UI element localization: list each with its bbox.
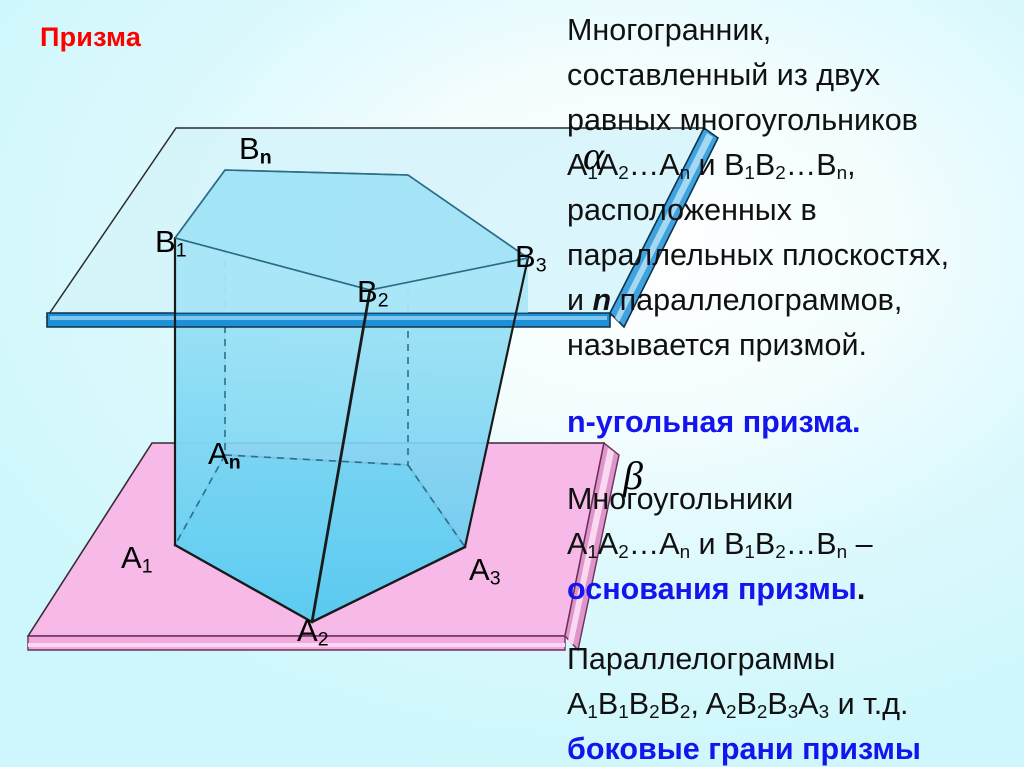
run-parallelograms: параллелограммов, (611, 283, 902, 317)
run-B-subn: n (837, 163, 848, 184)
term-lateral-faces: боковые грани призмы (567, 727, 1024, 767)
run3-s7: 3 (788, 702, 799, 723)
vertex-label-A2: A2 (297, 613, 329, 649)
term-bases: основания призмы. (567, 567, 1024, 612)
definition-line-6: параллельных плоскостях, (567, 233, 1024, 278)
run-A-sub1: 1 (587, 163, 598, 184)
vertex-label-A1-sub: 1 (142, 556, 153, 578)
run3-s8: 3 (819, 702, 830, 723)
run2-dash: – (847, 527, 872, 561)
vertex-label-An-base: A (208, 436, 229, 471)
vertex-label-B2-sub: 2 (378, 290, 389, 312)
vertex-label-A3-sub: 3 (490, 568, 501, 590)
run-comma: , (847, 148, 855, 182)
run2-B2: B (755, 527, 775, 561)
run-B-sub2: 2 (775, 163, 786, 184)
vertex-label-B3: B3 (515, 239, 547, 275)
run2-B-sub2: 2 (775, 542, 786, 563)
vertex-label-Bn: Bn (239, 131, 272, 167)
vertex-label-An-sub: n (229, 452, 241, 474)
run2-A-subn: n (680, 542, 691, 563)
run3-s3: 2 (649, 702, 660, 723)
run3-B: B (598, 687, 618, 721)
vertex-label-B2: B2 (357, 274, 389, 310)
vertex-label-A1: A1 (121, 540, 153, 576)
run3-B2: B (629, 687, 649, 721)
run3-s2: 1 (618, 702, 629, 723)
run2-B-subn: n (837, 542, 848, 563)
run-A2: A (598, 148, 618, 182)
spacer-3 (567, 612, 1024, 637)
bases-line-1: Многоугольники (567, 477, 1024, 522)
vertex-label-B3-base: B (515, 239, 536, 274)
run3-etc: и т.д. (829, 687, 908, 721)
run3-s4: 2 (680, 702, 691, 723)
run3-A3: A (798, 687, 818, 721)
run-A-subn: n (680, 163, 691, 184)
run-i: и (567, 283, 593, 317)
run2-A-sub1: 1 (587, 542, 598, 563)
run-B-sub1: 1 (744, 163, 755, 184)
run-Bn: …B (786, 148, 837, 182)
run2-Bn: …B (786, 527, 837, 561)
run3-s5: 2 (726, 702, 737, 723)
run2-B-sub1: 1 (744, 542, 755, 563)
vertex-label-B1-base: B (155, 224, 176, 259)
run3-s6: 2 (757, 702, 768, 723)
run2-and-B: и B (690, 527, 744, 561)
vertex-label-A3-base: A (469, 552, 490, 587)
definition-line-4: A1A2…An и B1B2…Bn, (567, 143, 1024, 188)
lateral-line-1: Параллелограммы (567, 637, 1024, 682)
lateral-line-2: A1B1B2B2, A2B2B3A3 и т.д. (567, 682, 1024, 727)
run-B2: B (755, 148, 775, 182)
vertex-label-An: An (208, 436, 241, 472)
run3-B4: B (737, 687, 757, 721)
run-n-italic: n (593, 283, 612, 317)
text-column: Многогранник, составленный из двух равны… (567, 8, 1024, 767)
definition-line-1: Многогранник, (567, 8, 1024, 53)
run2-An: …A (629, 527, 680, 561)
run-A: A (567, 148, 587, 182)
run2-A2: A (598, 527, 618, 561)
run-and-B: и B (690, 148, 744, 182)
term-bases-text: основания призмы (567, 572, 857, 606)
spacer-2 (567, 445, 1024, 477)
vertex-label-B1: B1 (155, 224, 187, 260)
definition-line-3: равных многоугольников (567, 98, 1024, 143)
vertex-label-Bn-base: B (239, 131, 260, 166)
vertex-label-B2-base: B (357, 274, 378, 309)
definition-line-2: составленный из двух (567, 53, 1024, 98)
vertex-label-A2-base: A (297, 613, 318, 648)
run3-sep: , A (690, 687, 726, 721)
vertex-label-A2-sub: 2 (318, 629, 329, 651)
run2-A: A (567, 527, 587, 561)
top-plane-front-highlight (50, 316, 607, 320)
definition-line-8: называется призмой. (567, 323, 1024, 368)
run3-s1: 1 (587, 702, 598, 723)
bases-line-2: A1A2…An и B1B2…Bn – (567, 522, 1024, 567)
slide-canvas: Призма B1 B2 B3 Bn A1 A2 A3 An α β Много… (0, 0, 1024, 767)
run-A-sub2: 2 (618, 163, 629, 184)
run-An: …A (629, 148, 680, 182)
run3-A: A (567, 687, 587, 721)
definition-line-5: расположенных в (567, 188, 1024, 233)
definition-line-7: и n параллелограммов, (567, 278, 1024, 323)
run2-A-sub2: 2 (618, 542, 629, 563)
slide-title: Призма (40, 22, 141, 53)
vertex-label-Bn-sub: n (260, 147, 272, 169)
spacer-1 (567, 368, 1024, 400)
term-bases-period: . (857, 572, 865, 606)
run3-B3: B (660, 687, 680, 721)
term-n-gonal-prism: n-угольная призма. (567, 400, 1024, 445)
vertex-label-B3-sub: 3 (536, 255, 547, 277)
vertex-label-A3: A3 (469, 552, 501, 588)
vertex-label-A1-base: A (121, 540, 142, 575)
run3-B5: B (767, 687, 787, 721)
vertex-label-B1-sub: 1 (176, 240, 187, 262)
